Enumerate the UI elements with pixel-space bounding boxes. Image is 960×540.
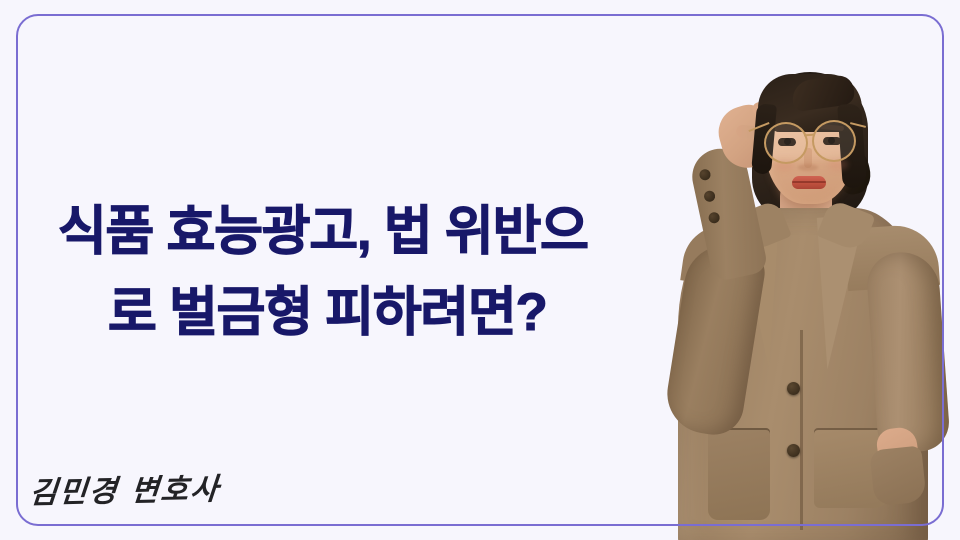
headline: 식품 효능광고, 법 위반으 로 벌금형 피하려면? xyxy=(58,192,668,353)
lawyer-portrait-image xyxy=(624,30,960,540)
jacket-button-upper xyxy=(787,382,800,395)
nose-shadow xyxy=(798,164,818,171)
jacket-pocket-left xyxy=(708,428,770,520)
glasses-lens-right xyxy=(812,120,856,162)
jacket-button-lower xyxy=(787,444,800,457)
jacket-front-seam xyxy=(800,330,803,530)
lip-line xyxy=(792,181,826,183)
glasses-lens-left xyxy=(764,122,808,164)
headline-line-1: 식품 효능광고, 법 위반으 xyxy=(58,192,668,273)
arm-right xyxy=(865,250,951,455)
lawyer-name-signature: 김민경 변호사 xyxy=(28,464,222,512)
thumbnail-card: 식품 효능광고, 법 위반으 로 벌금형 피하려면? 김민경 변호사 xyxy=(0,0,960,540)
sleeve-cuff-right xyxy=(869,445,927,506)
headline-line-2: 로 벌금형 피하려면? xyxy=(108,273,668,354)
